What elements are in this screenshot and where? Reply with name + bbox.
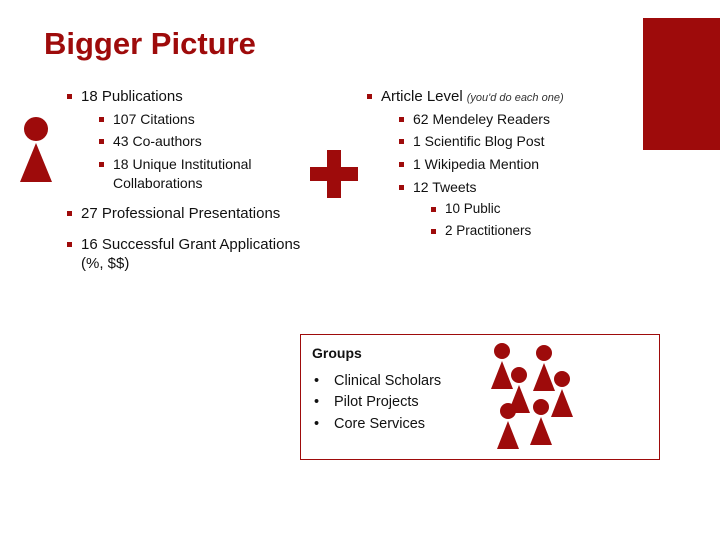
list-item: • Pilot Projects	[312, 392, 441, 413]
bullet-icon: •	[314, 371, 319, 392]
left-bullet-column: 18 Publications 107 Citations 43 Co-auth…	[66, 88, 316, 281]
bullet-icon: •	[314, 392, 319, 413]
square-bullet-icon	[399, 185, 404, 190]
list-item-label: 12 Tweets	[413, 179, 477, 195]
list-item-label: 43 Co-authors	[113, 133, 202, 149]
slide: Bigger Picture 18 Publications 107 Citat…	[0, 0, 720, 540]
bullet-icon: •	[314, 414, 319, 435]
square-bullet-icon	[431, 207, 436, 212]
sub-list: 62 Mendeley Readers 1 Scientific Blog Po…	[381, 111, 646, 241]
people-group-icon	[486, 339, 596, 454]
list-item-label: 62 Mendeley Readers	[413, 111, 550, 127]
list-item: Article Level (you'd do each one) 62 Men…	[366, 88, 646, 241]
list-item: 27 Professional Presentations	[66, 205, 316, 224]
left-bullet-list: 18 Publications 107 Citations 43 Co-auth…	[66, 88, 316, 274]
list-item-label: 2 Practitioners	[445, 223, 531, 238]
list-item-label: 18 Unique Institutional Collaborations	[113, 156, 252, 191]
square-bullet-icon	[431, 229, 436, 234]
list-item: 62 Mendeley Readers	[398, 111, 646, 130]
list-item-label: 10 Public	[445, 201, 501, 216]
square-bullet-icon	[399, 139, 404, 144]
square-bullet-icon	[99, 117, 104, 122]
right-bullet-column: Article Level (you'd do each one) 62 Men…	[366, 88, 646, 248]
list-item: 12 Tweets 10 Public 2 Practitioners	[398, 179, 646, 241]
list-item: 1 Wikipedia Mention	[398, 156, 646, 175]
list-item-label: Core Services	[334, 416, 425, 432]
square-bullet-icon	[67, 94, 72, 99]
list-item: 16 Successful Grant Applications (%, $$)	[66, 236, 316, 273]
list-item: 10 Public	[430, 201, 646, 219]
groups-box-title: Groups	[312, 345, 362, 361]
list-item-label: Article Level	[381, 88, 463, 105]
list-item-label: Clinical Scholars	[334, 373, 441, 389]
square-bullet-icon	[399, 117, 404, 122]
person-icon	[14, 116, 58, 189]
square-bullet-icon	[367, 94, 372, 99]
square-bullet-icon	[99, 162, 104, 167]
groups-list: • Clinical Scholars • Pilot Projects • C…	[312, 371, 441, 435]
red-corner-block	[643, 18, 720, 150]
square-bullet-icon	[67, 242, 72, 247]
list-item-label: 27 Professional Presentations	[81, 205, 280, 222]
square-bullet-icon	[99, 139, 104, 144]
list-item: • Core Services	[312, 414, 441, 435]
square-bullet-icon	[67, 211, 72, 216]
list-item-note: (you'd do each one)	[467, 92, 564, 104]
list-item-label: 18 Publications	[81, 88, 183, 105]
list-item: 1 Scientific Blog Post	[398, 133, 646, 152]
list-item: 18 Publications 107 Citations 43 Co-auth…	[66, 88, 316, 193]
square-bullet-icon	[399, 162, 404, 167]
sub-list: 107 Citations 43 Co-authors 18 Unique In…	[81, 111, 316, 194]
list-item: 2 Practitioners	[430, 223, 646, 241]
list-item-label: 16 Successful Grant Applications (%, $$)	[81, 236, 300, 272]
sub-sub-list: 10 Public 2 Practitioners	[413, 201, 646, 240]
list-item: 43 Co-authors	[98, 133, 316, 152]
list-item-label: 1 Scientific Blog Post	[413, 133, 545, 149]
list-item: 107 Citations	[98, 111, 316, 130]
red-cross-icon	[310, 150, 358, 203]
right-bullet-list: Article Level (you'd do each one) 62 Men…	[366, 88, 646, 241]
list-item: 18 Unique Institutional Collaborations	[98, 156, 316, 193]
list-item-label: Pilot Projects	[334, 394, 419, 410]
list-item-label: 1 Wikipedia Mention	[413, 156, 539, 172]
list-item-label: 107 Citations	[113, 111, 195, 127]
list-item: • Clinical Scholars	[312, 371, 441, 392]
page-title: Bigger Picture	[44, 26, 256, 62]
groups-box: Groups • Clinical Scholars • Pilot Proje…	[300, 334, 660, 460]
